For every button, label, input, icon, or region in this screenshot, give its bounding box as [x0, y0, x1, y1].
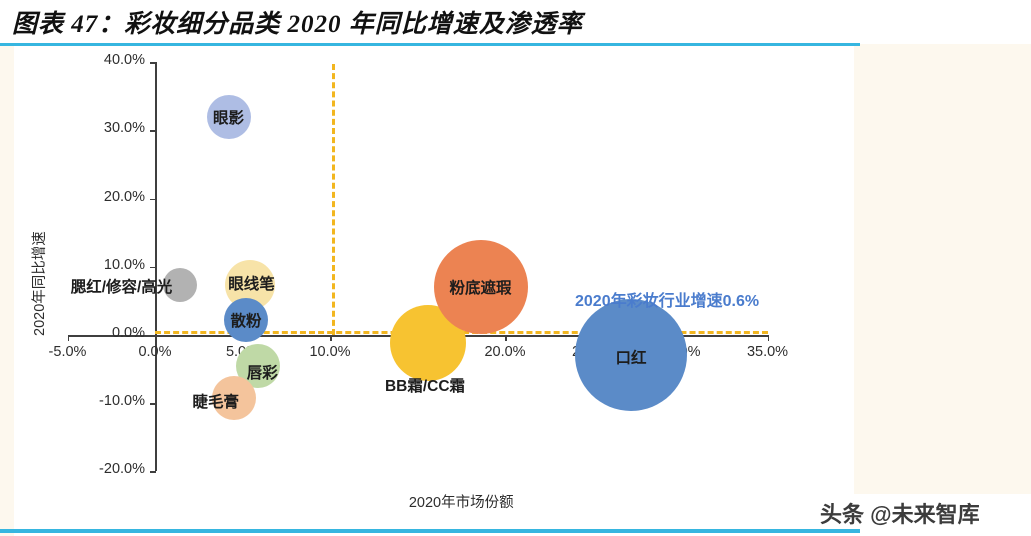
- x-tick-label: 35.0%: [747, 344, 788, 360]
- bubble-label: 口红: [615, 346, 646, 368]
- y-tick: [150, 403, 156, 405]
- y-tick-label: -20.0%: [99, 461, 145, 477]
- y-tick: [150, 199, 156, 201]
- y-tick: [150, 471, 156, 473]
- y-tick: [150, 267, 156, 269]
- bubble-label: 眼影: [213, 106, 244, 128]
- y-tick-label: 20.0%: [104, 189, 145, 205]
- y-tick: [150, 62, 156, 64]
- y-tick-label: -10.0%: [99, 393, 145, 409]
- x-axis-title: 2020年市场份额: [409, 491, 514, 512]
- title-bar: 图表 47：彩妆细分品类 2020 年同比增速及渗透率: [0, 0, 1031, 44]
- x-tick-label: -5.0%: [49, 344, 87, 360]
- bubble-label: 眼线笔: [228, 272, 275, 294]
- page-title: 图表 47：彩妆细分品类 2020 年同比增速及渗透率: [12, 4, 583, 40]
- bubble-label: BB霜/CC霜: [385, 374, 465, 396]
- x-tick-label: 20.0%: [484, 344, 525, 360]
- bubble-label: 散粉: [230, 309, 261, 331]
- x-tick: [330, 335, 332, 341]
- figure-page: 图表 47：彩妆细分品类 2020 年同比增速及渗透率 40.0%30.0%20…: [0, 0, 1031, 536]
- bubble-label: 唇彩: [247, 361, 278, 383]
- y-tick-label: 40.0%: [104, 52, 145, 68]
- bubble-label: 腮红/修容/高光: [71, 275, 173, 297]
- bottom-divider: [0, 529, 860, 533]
- bubble-label: 粉底遮瑕: [449, 276, 511, 298]
- watermark: 头条 @未来智库: [820, 497, 980, 529]
- y-tick-label: 10.0%: [104, 257, 145, 273]
- y-tick-label: 0.0%: [112, 325, 145, 341]
- bubble-chart-plot: 40.0%30.0%20.0%10.0%0.0%-10.0%-20.0%-5.0…: [0, 46, 860, 516]
- y-axis-title: 2020年同比增速: [28, 231, 49, 336]
- y-tick: [150, 130, 156, 132]
- y-tick-label: 30.0%: [104, 120, 145, 136]
- reference-line-vertical: [332, 64, 335, 335]
- x-tick: [505, 335, 507, 341]
- chart-annotation: 2020年彩妆行业增速0.6%: [575, 287, 759, 311]
- bubble-label: 睫毛膏: [192, 390, 239, 412]
- x-tick-label: 0.0%: [138, 344, 171, 360]
- x-tick: [768, 335, 770, 341]
- x-tick: [155, 335, 157, 341]
- x-tick-label: 10.0%: [309, 344, 350, 360]
- x-tick: [68, 335, 70, 341]
- right-margin-band: [854, 44, 1031, 494]
